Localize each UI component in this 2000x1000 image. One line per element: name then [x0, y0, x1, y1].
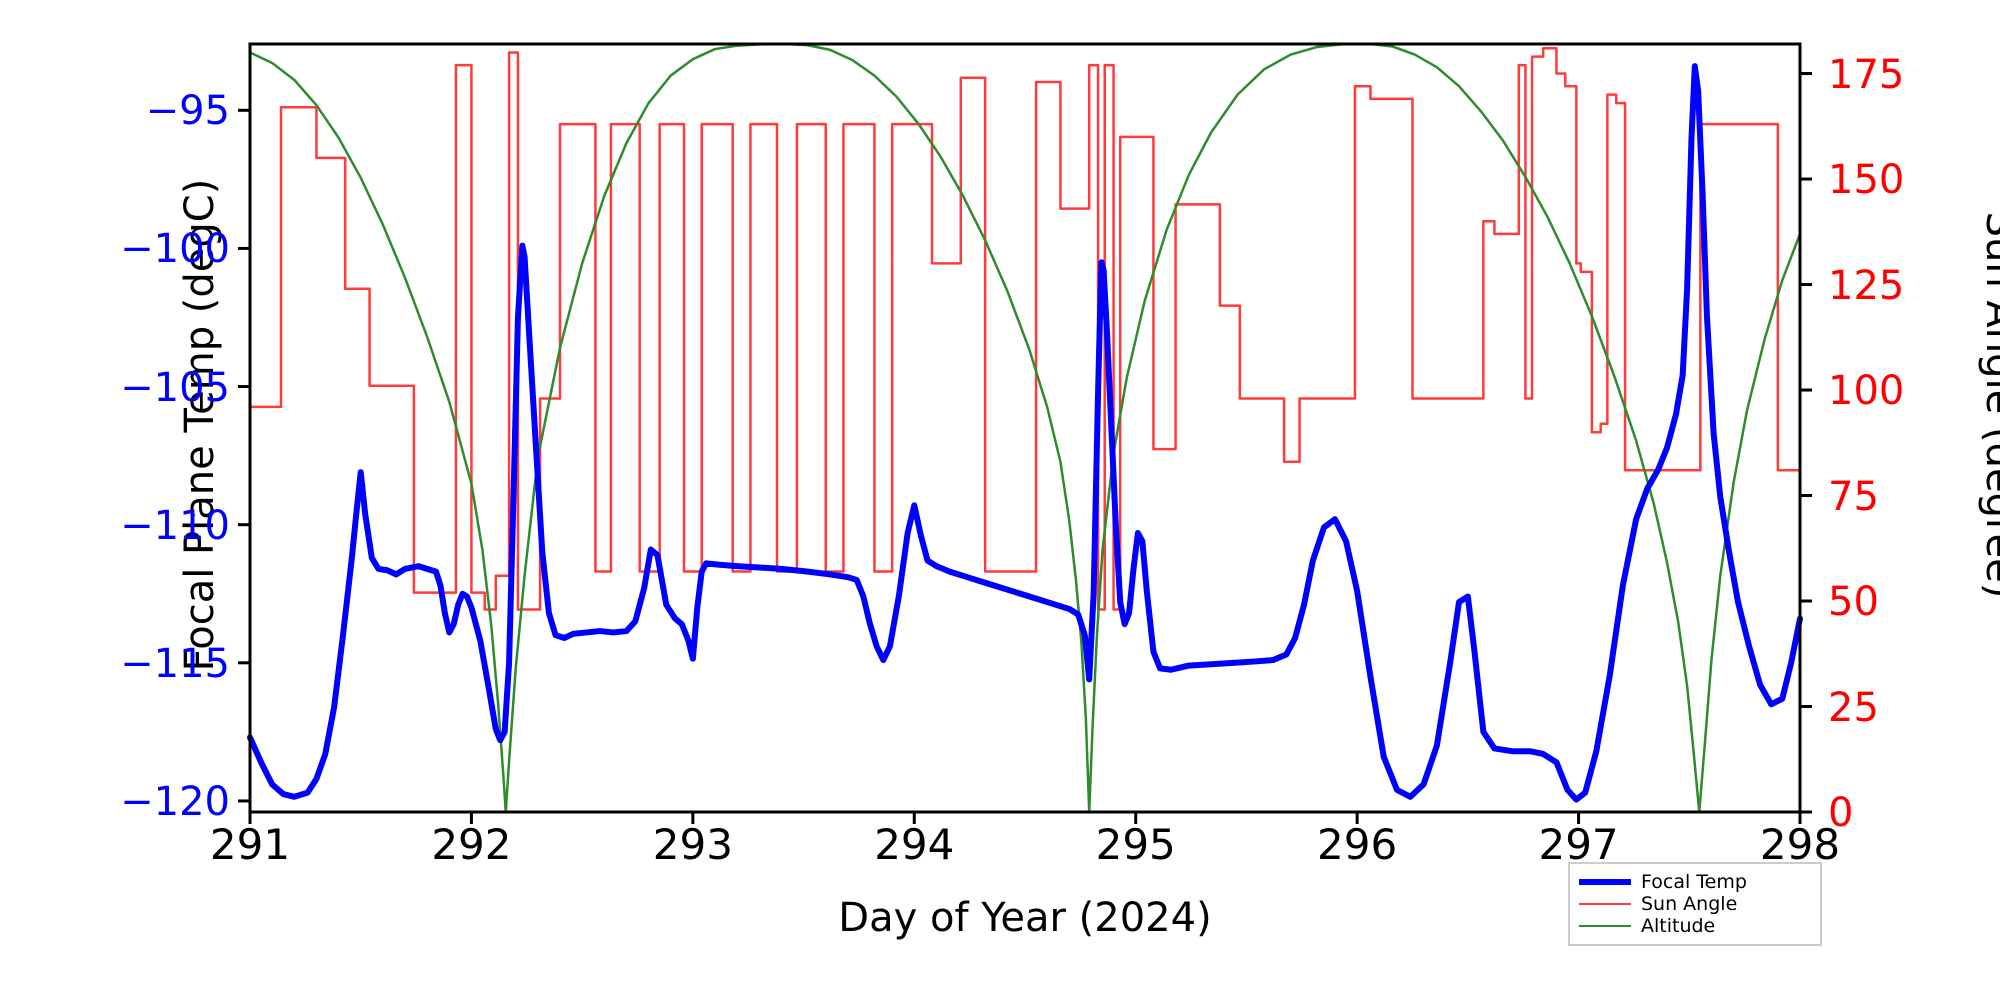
y-tick-label-right: 175	[1828, 52, 2000, 98]
legend-item: Altitude	[1579, 915, 1811, 937]
legend-label: Sun Angle	[1641, 893, 1737, 915]
x-tick-label: 294	[814, 820, 1014, 869]
y-tick-label-left: −110	[20, 503, 230, 549]
y-tick-label-right: 100	[1828, 368, 2000, 414]
x-tick-label: 295	[1036, 820, 1236, 869]
y-tick-label-left: −105	[20, 365, 230, 411]
y-tick-label-left: −120	[20, 779, 230, 825]
legend-label: Altitude	[1641, 915, 1715, 937]
plot-background	[250, 44, 1800, 812]
x-tick-label: 292	[371, 820, 571, 869]
y-tick-label-right: 125	[1828, 263, 2000, 309]
legend-swatch	[1579, 879, 1631, 885]
y-tick-label-right: 50	[1828, 579, 2000, 625]
legend-swatch	[1579, 903, 1631, 905]
x-tick-label: 291	[150, 820, 350, 869]
legend-item: Sun Angle	[1579, 893, 1811, 915]
y-tick-label-right: 75	[1828, 474, 2000, 520]
y-axis-label-left: Focal Plane Temp (degC)	[175, 25, 225, 825]
legend-item: Focal Temp	[1579, 871, 1811, 893]
y-tick-label-right: 25	[1828, 685, 2000, 731]
legend: Focal TempSun AngleAltitude	[1568, 862, 1822, 946]
legend-label: Focal Temp	[1641, 871, 1747, 893]
x-tick-label: 293	[593, 820, 793, 869]
y-tick-label-left: −95	[20, 88, 230, 134]
legend-swatch	[1579, 925, 1631, 927]
x-tick-label: 296	[1257, 820, 1457, 869]
y-tick-label-left: −115	[20, 641, 230, 687]
figure: Focal Plane Temp (degC) Sun Angle (degre…	[0, 0, 2000, 1000]
y-tick-label-left: −100	[20, 226, 230, 272]
y-tick-label-right: 150	[1828, 157, 2000, 203]
